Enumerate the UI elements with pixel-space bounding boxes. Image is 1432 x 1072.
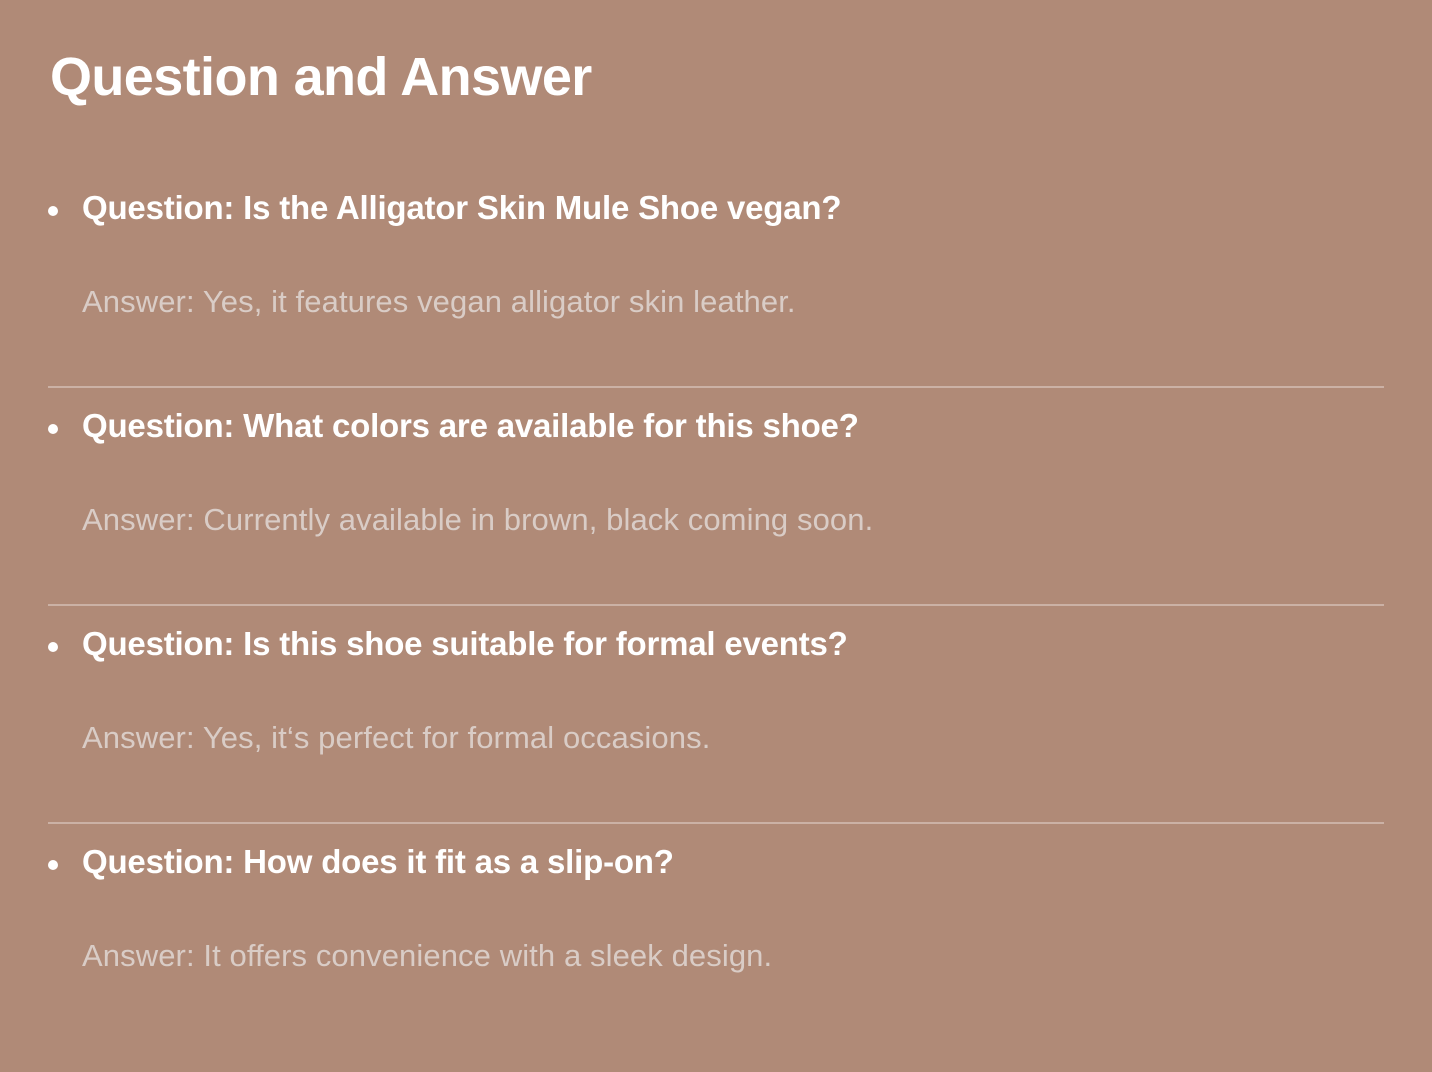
qa-answer: Answer: Yes, it‘s perfect for formal occ…	[82, 717, 1384, 759]
list-item: Question: Is this shoe suitable for form…	[0, 606, 1432, 824]
list-item: Question: How does it fit as a slip-on? …	[0, 824, 1432, 1042]
page-title: Question and Answer	[50, 46, 592, 108]
qa-question: Question: How does it fit as a slip-on?	[82, 841, 1384, 883]
bullet-icon	[48, 642, 58, 652]
qa-question: Question: Is the Alligator Skin Mule Sho…	[82, 187, 1384, 229]
bullet-icon	[48, 206, 58, 216]
list-item: Question: What colors are available for …	[0, 388, 1432, 606]
qa-question: Question: Is this shoe suitable for form…	[82, 623, 1384, 665]
bullet-icon	[48, 860, 58, 870]
list-item: Question: Is the Alligator Skin Mule Sho…	[0, 170, 1432, 388]
qa-answer: Answer: Yes, it features vegan alligator…	[82, 281, 1384, 323]
qa-answer: Answer: Currently available in brown, bl…	[82, 499, 1384, 541]
question-and-answer-panel: Question and Answer Question: Is the All…	[0, 0, 1432, 1072]
bullet-icon	[48, 424, 58, 434]
qa-question: Question: What colors are available for …	[82, 405, 1384, 447]
qa-answer: Answer: It offers convenience with a sle…	[82, 935, 1384, 977]
qa-list: Question: Is the Alligator Skin Mule Sho…	[0, 170, 1432, 1042]
